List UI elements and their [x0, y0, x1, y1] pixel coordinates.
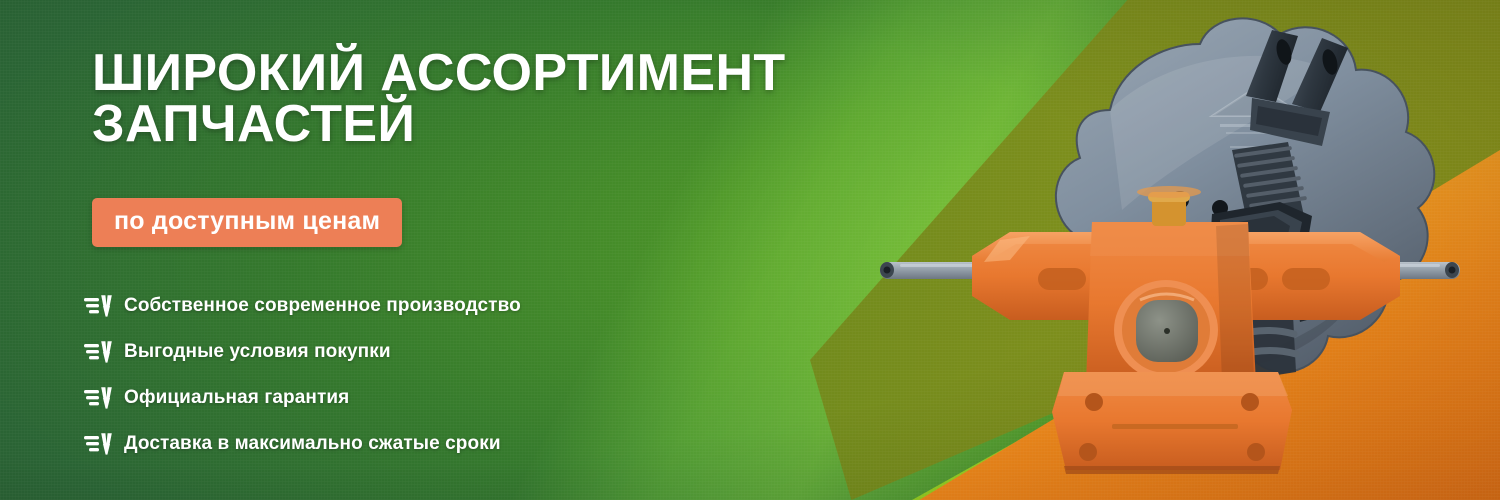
feature-list: Собственное современное производство: [84, 283, 521, 467]
hub-cap: [1114, 280, 1218, 380]
list-item: Выгодные условия покупки: [84, 329, 521, 375]
wheat-sprout-icon: [84, 431, 114, 457]
price-badge: по доступным ценам: [92, 198, 402, 247]
wheat-sprout-icon: [84, 293, 114, 319]
feature-label: Выгодные условия покупки: [124, 341, 391, 363]
page-title: ШИРОКИЙ АССОРТИМЕНТ ЗАПЧАСТЕЙ: [92, 48, 852, 150]
promo-banner: ШИРОКИЙ АССОРТИМЕНТ ЗАПЧАСТЕЙ по доступн…: [0, 0, 1500, 500]
list-item: Доставка в максимально сжатые сроки: [84, 421, 521, 467]
feature-label: Официальная гарантия: [124, 387, 349, 409]
list-item: Собственное современное производство: [84, 283, 521, 329]
product-image-disc-harrow: [860, 0, 1500, 500]
wheat-sprout-icon: [84, 339, 114, 365]
list-item: Официальная гарантия: [84, 375, 521, 421]
mounting-flange: [1052, 372, 1292, 474]
banner-content: ШИРОКИЙ АССОРТИМЕНТ ЗАПЧАСТЕЙ по доступн…: [0, 0, 860, 500]
feature-label: Собственное современное производство: [124, 295, 521, 317]
wheat-sprout-icon: [84, 385, 114, 411]
feature-label: Доставка в максимально сжатые сроки: [124, 433, 501, 455]
